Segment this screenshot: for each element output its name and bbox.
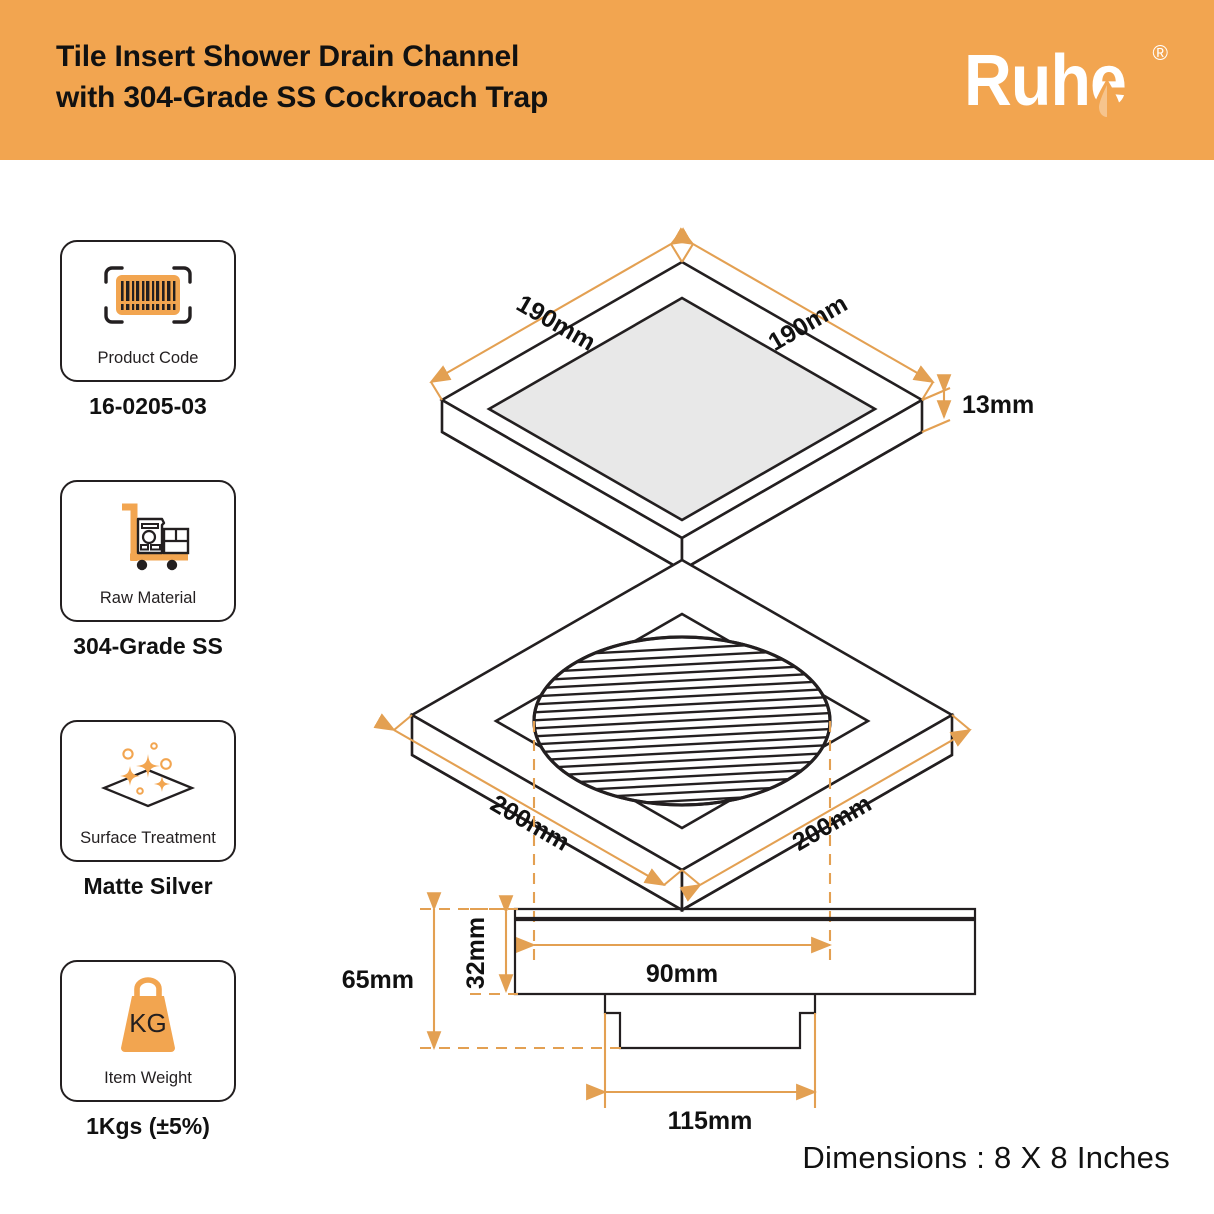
spec-card-item-weight: KG Item Weight [60,960,236,1102]
spec-card-label: Product Code [62,349,234,368]
hand-truck-boxes-icon [62,494,234,576]
page-title: Tile Insert Shower Drain Channel with 30… [56,36,548,119]
dimension-label: 115mm [668,1107,753,1135]
spec-card-raw-material: Raw Material [60,480,236,622]
barcode-scan-icon [62,254,234,336]
spec-card-surface-treatment: Surface Treatment [60,720,236,862]
spec-value-surface-treatment: Matte Silver [28,873,268,900]
spec-value-item-weight: 1Kgs (±5%) [28,1113,268,1140]
sparkle-surface-icon [62,734,234,816]
spec-card-product-code: Product Code [60,240,236,382]
dimension-label: 90mm [646,960,718,988]
spec-card-label: Surface Treatment [62,829,234,848]
side-elevation-view [515,909,975,1048]
brand-logo: Ruhe ® [964,38,1174,124]
dimension-label: 65mm [342,966,414,994]
product-technical-diagram: 190mm 190mm 13mm [330,170,1214,1214]
header-banner: Tile Insert Shower Drain Channel with 30… [0,0,1214,160]
dimension-32mm: 32mm [462,909,518,994]
spec-card-label: Raw Material [62,589,234,608]
dimension-13mm: 13mm [922,388,1034,432]
spec-card-label: Item Weight [62,1069,234,1088]
weight-unit-label: KG [129,1008,167,1038]
spec-value-product-code: 16-0205-03 [28,393,268,420]
dimension-label: 13mm [962,391,1034,419]
water-drop-icon [1090,76,1124,122]
registered-trademark-icon: ® [1153,42,1168,66]
dimension-label: 32mm [462,917,490,989]
weight-kg-icon: KG [62,974,234,1056]
dimension-115mm: 115mm [605,1013,815,1135]
spec-value-raw-material: 304-Grade SS [28,633,268,660]
dimensions-footer-note: Dimensions : 8 X 8 Inches [802,1140,1170,1176]
